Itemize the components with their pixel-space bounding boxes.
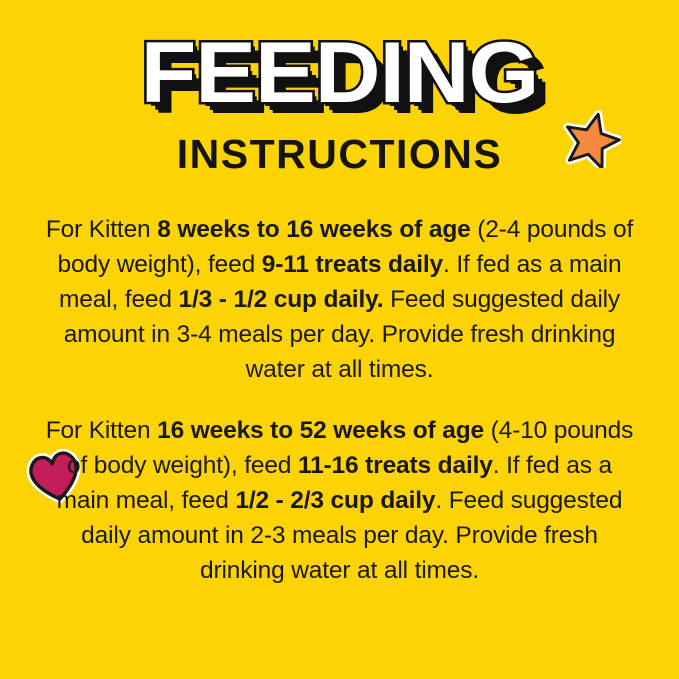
page-title: FEEDING bbox=[0, 0, 679, 116]
feeding-instructions-panel: FEEDING INSTRUCTIONS For Kitten 8 weeks … bbox=[0, 0, 679, 679]
instruction-paragraph-kitten-8-16-weeks: For Kitten 8 weeks to 16 weeks of age (2… bbox=[40, 212, 639, 387]
instructions-body: For Kitten 8 weeks to 16 weeks of age (2… bbox=[0, 212, 679, 588]
instruction-paragraph-kitten-16-52-weeks: For Kitten 16 weeks to 52 weeks of age (… bbox=[40, 413, 639, 588]
star-icon bbox=[563, 110, 621, 168]
